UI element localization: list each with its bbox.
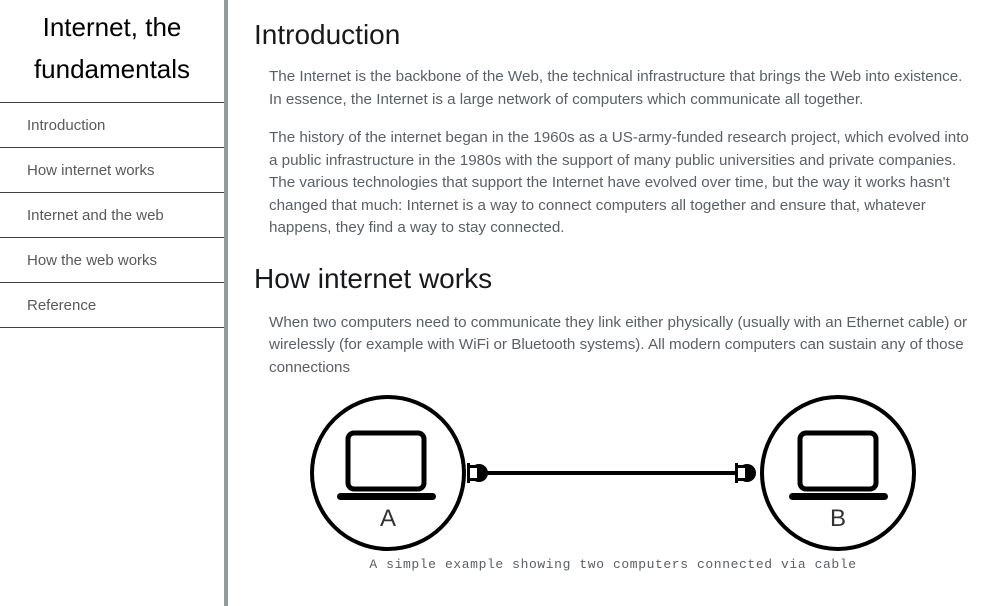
paragraph-intro-2: The history of the internet began in the… xyxy=(254,127,969,240)
laptop-icon-a xyxy=(337,433,436,500)
node-b-label: B xyxy=(830,505,846,532)
network-diagram-svg: A xyxy=(303,395,923,555)
laptop-icon-b xyxy=(789,433,888,500)
site-title: Internet, the fundamentals xyxy=(0,0,224,102)
paragraph-intro-1: The Internet is the backbone of the Web,… xyxy=(254,66,969,111)
heading-how-internet-works: How internet works xyxy=(254,262,972,296)
sidebar-item-internet-and-the-web[interactable]: Internet and the web xyxy=(0,193,224,238)
network-diagram-figure: A xyxy=(254,395,972,572)
plug-connector-right-icon xyxy=(735,463,756,483)
sidebar-item-how-internet-works[interactable]: How internet works xyxy=(0,148,224,193)
sidebar-item-reference[interactable]: Reference xyxy=(0,283,224,328)
paragraph-how-internet-works-1: When two computers need to communicate t… xyxy=(254,312,969,380)
plug-connector-left-icon xyxy=(467,463,488,483)
sidebar-item-introduction[interactable]: Introduction xyxy=(0,103,224,148)
figure-caption: A simple example showing two computers c… xyxy=(254,557,972,572)
sidebar-item-how-the-web-works[interactable]: How the web works xyxy=(0,238,224,283)
main-content: Introduction The Internet is the backbon… xyxy=(228,0,1002,606)
sidebar: Internet, the fundamentals Introduction … xyxy=(0,0,228,606)
node-a-label: A xyxy=(380,505,396,532)
sidebar-nav: Introduction How internet works Internet… xyxy=(0,102,224,328)
heading-introduction: Introduction xyxy=(254,18,972,52)
page-root: Internet, the fundamentals Introduction … xyxy=(0,0,1002,606)
